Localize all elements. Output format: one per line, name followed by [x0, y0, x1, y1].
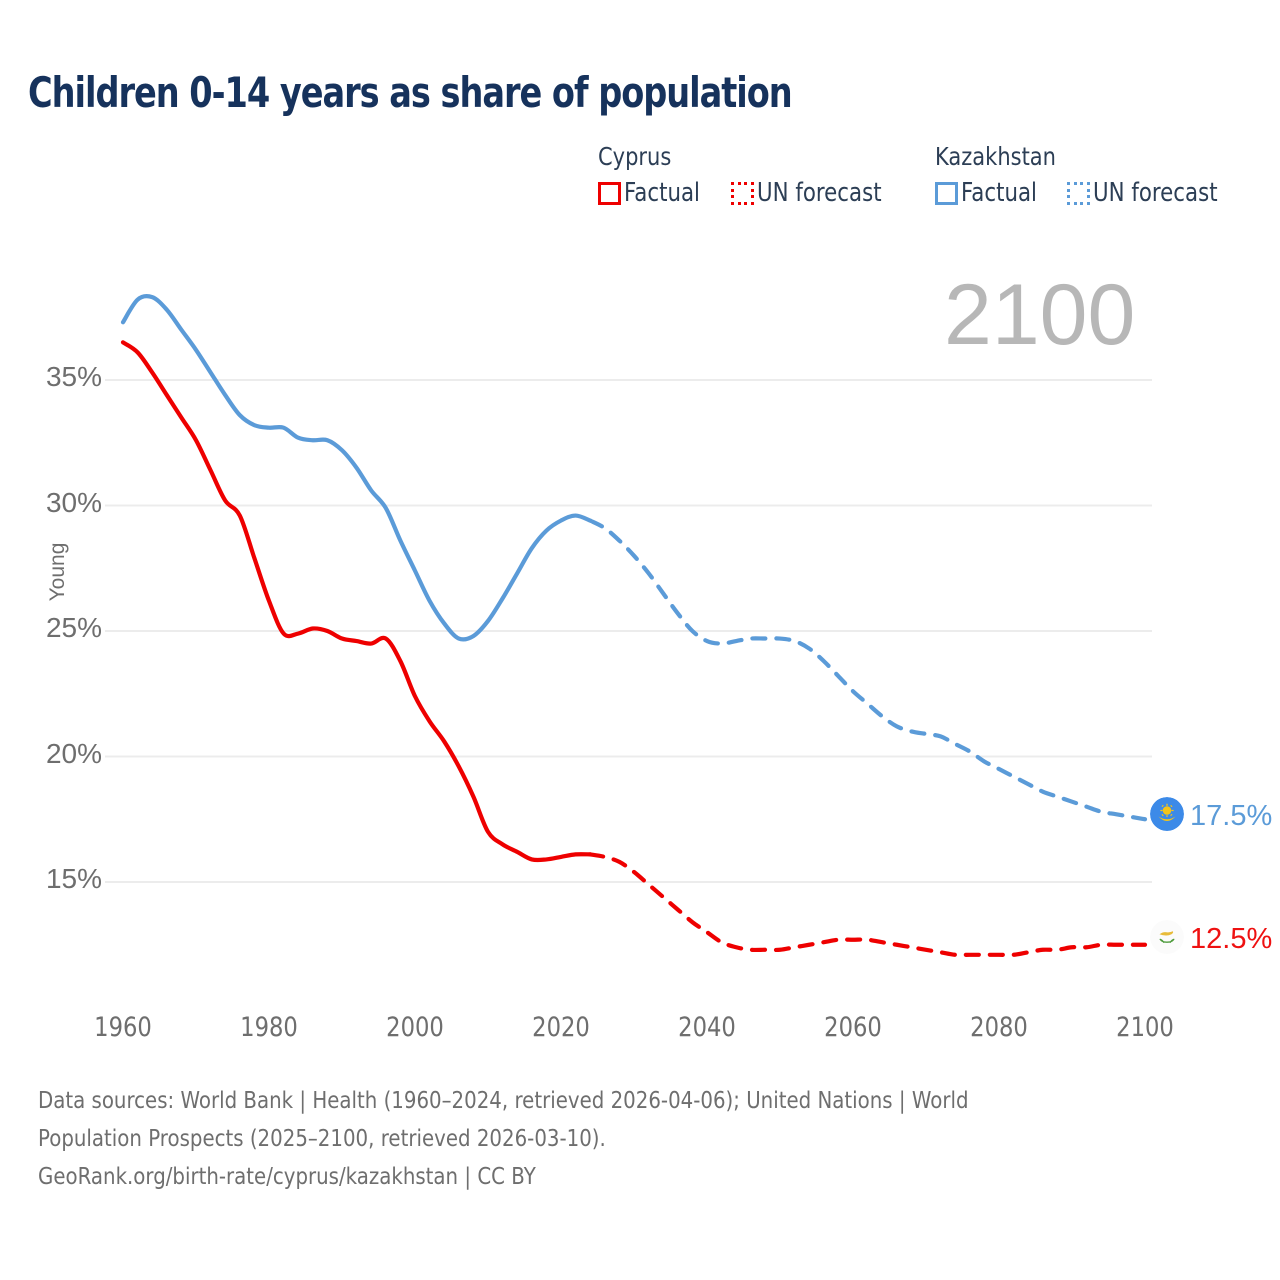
chart-gridlines: [105, 380, 1152, 882]
x-axis-tick-label: 2040: [661, 1012, 753, 1043]
footer-line-3[interactable]: GeoRank.org/birth-rate/cyprus/kazakhstan…: [38, 1158, 1070, 1196]
y-axis-tick-label: 30%: [12, 487, 102, 519]
x-axis-tick-label: 2060: [807, 1012, 899, 1043]
kazakhstan-flag-icon: [1150, 797, 1184, 831]
cyprus-endpoint-value: 12.5%: [1190, 923, 1272, 956]
x-axis-tick-label: 1980: [223, 1012, 315, 1043]
kazakhstan-endpoint-value: 17.5%: [1190, 800, 1272, 833]
y-axis-tick-label: 25%: [12, 612, 102, 644]
cyprus-forecast-line: [590, 854, 1145, 955]
footer-line-2: Population Prospects (2025–2100, retriev…: [38, 1120, 1070, 1158]
cyprus-flag-icon: [1150, 920, 1184, 954]
footer-sources: Data sources: World Bank | Health (1960–…: [38, 1082, 1238, 1196]
footer-line-1: Data sources: World Bank | Health (1960–…: [38, 1082, 1070, 1120]
x-axis-tick-label: 2080: [953, 1012, 1045, 1043]
kazakhstan-forecast-line: [590, 521, 1145, 820]
y-axis-tick-label: 20%: [12, 738, 102, 770]
x-axis-tick-label: 1960: [77, 1012, 169, 1043]
x-axis-tick-label: 2020: [515, 1012, 607, 1043]
kazakhstan-factual-line: [123, 296, 590, 639]
chart-curves: [123, 296, 1145, 955]
y-axis-tick-label: 35%: [12, 361, 102, 393]
x-axis-tick-label: 2100: [1099, 1012, 1191, 1043]
chart-page: Children 0-14 years as share of populati…: [0, 0, 1280, 1280]
cyprus-factual-line: [123, 342, 590, 860]
y-axis-tick-label: 15%: [12, 863, 102, 895]
x-axis-tick-label: 2000: [369, 1012, 461, 1043]
